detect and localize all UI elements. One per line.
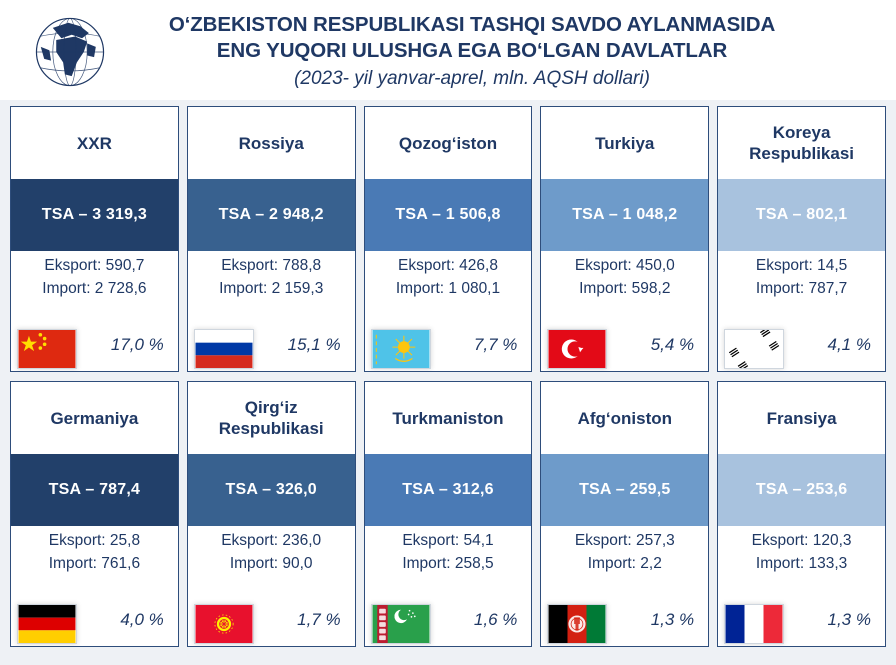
trade-stats: Eksport: 450,0Import: 598,2 xyxy=(541,251,708,319)
export-value: Eksport: 426,8 xyxy=(398,255,498,276)
country-card[interactable]: FransiyaTSA – 253,6Eksport: 120,3Import:… xyxy=(717,381,886,647)
tsa-band: TSA – 787,4 xyxy=(11,454,178,526)
import-value: Import: 761,6 xyxy=(49,553,140,574)
country-name: XXR xyxy=(11,107,178,179)
import-value: Import: 258,5 xyxy=(402,553,493,574)
card-footer: 17,0 % xyxy=(11,319,178,371)
trade-stats: Eksport: 54,1Import: 258,5 xyxy=(365,526,532,594)
tsa-band: TSA – 1 506,8 xyxy=(365,179,532,251)
share-percent: 5,4 % xyxy=(651,335,694,355)
import-value: Import: 133,3 xyxy=(756,553,847,574)
export-value: Eksport: 450,0 xyxy=(575,255,675,276)
tr-flag xyxy=(547,329,607,369)
card-footer: 1,3 % xyxy=(718,594,885,646)
country-name: Fransiya xyxy=(718,382,885,454)
page-header: O‘ZBEKISTON RESPUBLIKASI TASHQI SAVDO AY… xyxy=(0,0,896,100)
country-grid: XXRTSA – 3 319,3Eksport: 590,7Import: 2 … xyxy=(0,100,896,657)
trade-stats: Eksport: 236,0Import: 90,0 xyxy=(188,526,355,594)
country-name: Qirg‘iz Respublikasi xyxy=(188,382,355,454)
country-card[interactable]: GermaniyaTSA – 787,4Eksport: 25,8Import:… xyxy=(10,381,179,647)
share-percent: 15,1 % xyxy=(288,335,341,355)
card-footer: 5,4 % xyxy=(541,319,708,371)
import-value: Import: 2,2 xyxy=(588,553,662,574)
ru-flag xyxy=(194,329,254,369)
import-value: Import: 90,0 xyxy=(230,553,313,574)
share-percent: 1,6 % xyxy=(474,610,517,630)
country-name: Afg‘oniston xyxy=(541,382,708,454)
trade-stats: Eksport: 14,5Import: 787,7 xyxy=(718,251,885,319)
share-percent: 4,0 % xyxy=(120,610,163,630)
card-footer: 1,6 % xyxy=(365,594,532,646)
country-card[interactable]: Qirg‘iz RespublikasiTSA – 326,0Eksport: … xyxy=(187,381,356,647)
country-name: Qozog‘iston xyxy=(365,107,532,179)
export-value: Eksport: 54,1 xyxy=(402,530,493,551)
import-value: Import: 598,2 xyxy=(579,278,670,299)
card-footer: 1,3 % xyxy=(541,594,708,646)
country-name: Germaniya xyxy=(11,382,178,454)
af-flag xyxy=(547,604,607,644)
share-percent: 7,7 % xyxy=(474,335,517,355)
tsa-band: TSA – 326,0 xyxy=(188,454,355,526)
card-footer: 4,0 % xyxy=(11,594,178,646)
tsa-band: TSA – 2 948,2 xyxy=(188,179,355,251)
import-value: Import: 1 080,1 xyxy=(396,278,500,299)
trade-stats: Eksport: 788,8Import: 2 159,3 xyxy=(188,251,355,319)
country-name: Turkmaniston xyxy=(365,382,532,454)
fr-flag xyxy=(724,604,784,644)
trade-stats: Eksport: 426,8Import: 1 080,1 xyxy=(365,251,532,319)
share-percent: 1,3 % xyxy=(651,610,694,630)
tsa-band: TSA – 1 048,2 xyxy=(541,179,708,251)
export-value: Eksport: 590,7 xyxy=(44,255,144,276)
tm-flag xyxy=(371,604,431,644)
title-block: O‘ZBEKISTON RESPUBLIKASI TASHQI SAVDO AY… xyxy=(114,12,882,92)
de-flag xyxy=(17,604,77,644)
page-title-line2: ENG YUQORI ULUSHGA EGA BO‘LGAN DAVLATLAR xyxy=(114,38,830,64)
country-name: Turkiya xyxy=(541,107,708,179)
page-subtitle: (2023- yil yanvar-aprel, mln. AQSH dolla… xyxy=(114,66,830,92)
share-percent: 4,1 % xyxy=(828,335,871,355)
export-value: Eksport: 120,3 xyxy=(752,530,852,551)
trade-stats: Eksport: 257,3Import: 2,2 xyxy=(541,526,708,594)
country-name: Rossiya xyxy=(188,107,355,179)
share-percent: 17,0 % xyxy=(111,335,164,355)
trade-stats: Eksport: 590,7Import: 2 728,6 xyxy=(11,251,178,319)
page-title-line1: O‘ZBEKISTON RESPUBLIKASI TASHQI SAVDO AY… xyxy=(114,12,830,38)
export-value: Eksport: 14,5 xyxy=(756,255,847,276)
country-card[interactable]: TurkiyaTSA – 1 048,2Eksport: 450,0Import… xyxy=(540,106,709,372)
country-card[interactable]: Afg‘onistonTSA – 259,5Eksport: 257,3Impo… xyxy=(540,381,709,647)
card-footer: 1,7 % xyxy=(188,594,355,646)
country-card[interactable]: Koreya RespublikasiTSA – 802,1Eksport: 1… xyxy=(717,106,886,372)
export-value: Eksport: 788,8 xyxy=(221,255,321,276)
cn-flag xyxy=(17,329,77,369)
share-percent: 1,7 % xyxy=(297,610,340,630)
import-value: Import: 787,7 xyxy=(756,278,847,299)
import-value: Import: 2 728,6 xyxy=(42,278,146,299)
tsa-band: TSA – 253,6 xyxy=(718,454,885,526)
country-card[interactable]: TurkmanistonTSA – 312,6Eksport: 54,1Impo… xyxy=(364,381,533,647)
trade-stats: Eksport: 25,8Import: 761,6 xyxy=(11,526,178,594)
country-name: Koreya Respublikasi xyxy=(718,107,885,179)
country-row-2: GermaniyaTSA – 787,4Eksport: 25,8Import:… xyxy=(10,381,886,647)
export-value: Eksport: 236,0 xyxy=(221,530,321,551)
share-percent: 1,3 % xyxy=(828,610,871,630)
card-footer: 7,7 % xyxy=(365,319,532,371)
card-footer: 15,1 % xyxy=(188,319,355,371)
import-value: Import: 2 159,3 xyxy=(219,278,323,299)
tsa-band: TSA – 259,5 xyxy=(541,454,708,526)
export-value: Eksport: 257,3 xyxy=(575,530,675,551)
kg-flag xyxy=(194,604,254,644)
country-row-1: XXRTSA – 3 319,3Eksport: 590,7Import: 2 … xyxy=(10,106,886,372)
tsa-band: TSA – 802,1 xyxy=(718,179,885,251)
tsa-band: TSA – 312,6 xyxy=(365,454,532,526)
globe-icon xyxy=(26,8,114,96)
kr-flag xyxy=(724,329,784,369)
trade-stats: Eksport: 120,3Import: 133,3 xyxy=(718,526,885,594)
country-card[interactable]: RossiyaTSA – 2 948,2Eksport: 788,8Import… xyxy=(187,106,356,372)
country-card[interactable]: Qozog‘istonTSA – 1 506,8Eksport: 426,8Im… xyxy=(364,106,533,372)
tsa-band: TSA – 3 319,3 xyxy=(11,179,178,251)
country-card[interactable]: XXRTSA – 3 319,3Eksport: 590,7Import: 2 … xyxy=(10,106,179,372)
card-footer: 4,1 % xyxy=(718,319,885,371)
kz-flag xyxy=(371,329,431,369)
export-value: Eksport: 25,8 xyxy=(49,530,140,551)
